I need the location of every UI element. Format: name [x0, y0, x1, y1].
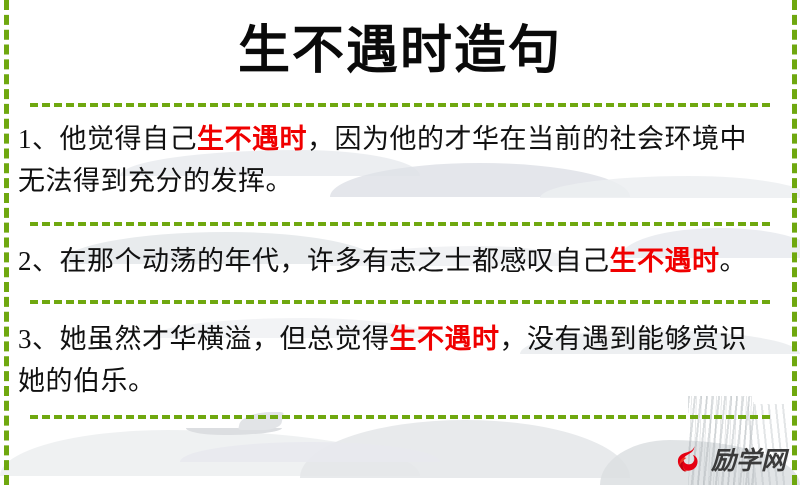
sentence-3-number: 3、	[18, 324, 60, 354]
sentence-item-3: 3、她虽然才华横溢，但总觉得生不遇时，没有遇到能够赏识她的伯乐。	[18, 318, 774, 402]
sentence-item-2: 2、在那个动荡的年代，许多有志之士都感叹自己生不遇时。	[18, 240, 774, 282]
divider-2	[30, 222, 770, 226]
divider-4	[30, 415, 770, 419]
sentence-1-number: 1、	[18, 124, 60, 154]
divider-1	[30, 103, 770, 107]
flame-swirl-icon	[671, 442, 705, 476]
sentence-1-part-a: 他觉得自己	[60, 124, 198, 154]
divider-3	[30, 300, 770, 304]
sentence-3-keyword: 生不遇时	[390, 324, 500, 354]
sentence-examples-page: 生不遇时造句 1、他觉得自己生不遇时，因为他的才华在当前的社会环境中无法得到充分…	[0, 0, 800, 485]
sentence-2-number: 2、	[18, 246, 60, 276]
sentence-item-1: 1、他觉得自己生不遇时，因为他的才华在当前的社会环境中无法得到充分的发挥。	[18, 118, 774, 202]
sentence-2-part-b: 。	[720, 246, 748, 276]
page-title: 生不遇时造句	[0, 8, 800, 83]
sentence-3-part-a: 她虽然才华横溢，但总觉得	[60, 324, 390, 354]
site-watermark-logo: 励学网	[671, 441, 786, 477]
boat-watermark	[186, 428, 282, 435]
sentence-2-part-a: 在那个动荡的年代，许多有志之士都感叹自己	[60, 246, 610, 276]
sentence-1-keyword: 生不遇时	[197, 124, 307, 154]
sentence-2-keyword: 生不遇时	[610, 246, 720, 276]
site-watermark-text: 励学网	[711, 441, 786, 477]
